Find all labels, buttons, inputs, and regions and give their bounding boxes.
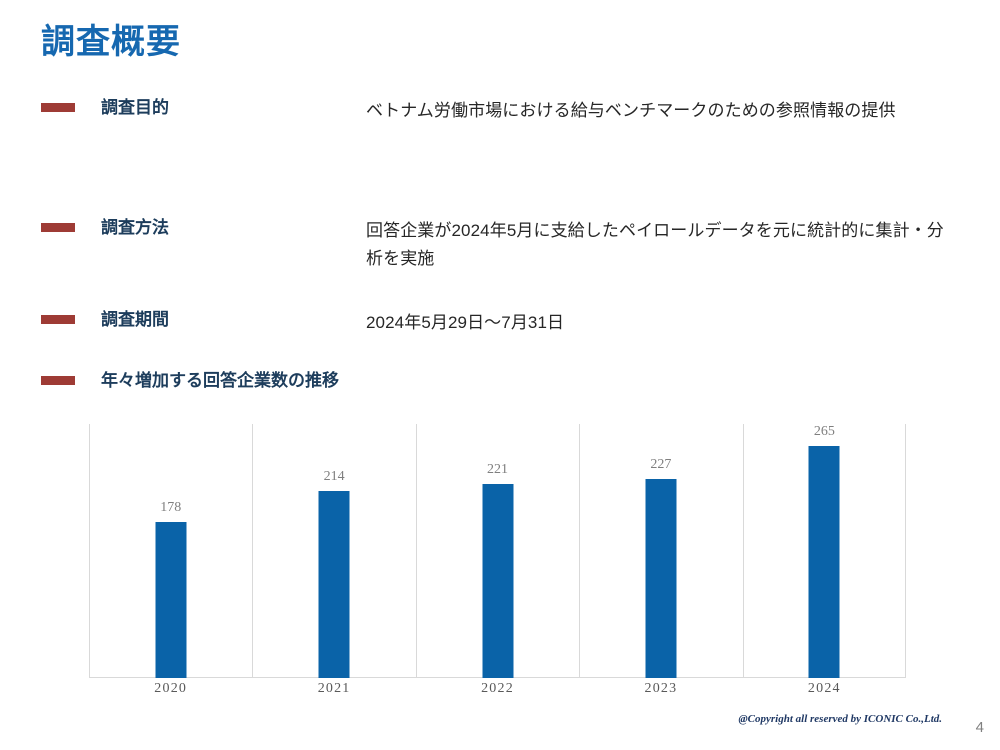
chart-bar-value-label: 221 [487,462,508,478]
chart-category-separator [579,424,580,678]
chart-bar[interactable] [319,491,350,678]
slide-canvas: 調査概要 調査目的 ベトナム労働市場における給与ベンチマークのための参照情報の提… [0,0,1000,750]
chart-category-separator [416,424,417,678]
chart-bar-value-label: 265 [814,424,835,440]
chart-category-2023: 227 [579,424,742,678]
chart-x-axis-labels: 20202021202220232024 [89,681,906,697]
chart-category-separator [743,424,744,678]
chart-plot-area: 178214221227265 [89,424,906,678]
bullet-marker-icon [41,223,75,232]
chart-bar[interactable] [155,522,186,678]
copyright-text: @Copyright all reserved by ICONIC Co.,Lt… [739,713,942,725]
chart-category-2021: 214 [252,424,415,678]
chart-bar[interactable] [482,484,513,678]
chart-x-tick-2020: 2020 [89,681,252,697]
bullet-label-purpose: 調査目的 [101,98,169,118]
response-companies-bar-chart: 178214221227265 [89,424,906,678]
bullet-marker-icon [41,376,75,385]
bullet-value-purpose: ベトナム労働市場における給与ベンチマークのための参照情報の提供 [366,97,946,125]
page-number: 4 [976,719,984,736]
chart-bar[interactable] [645,479,676,678]
bullet-marker-icon [41,103,75,112]
chart-bar-value-label: 178 [160,500,181,516]
bullet-label-period: 調査期間 [101,310,169,330]
chart-bar-value-label: 214 [324,469,345,485]
bullet-marker-icon [41,315,75,324]
bullet-value-period: 2024年5月29日〜7月31日 [366,309,946,337]
chart-x-tick-2023: 2023 [579,681,742,697]
chart-x-tick-2022: 2022 [416,681,579,697]
chart-category-2020: 178 [89,424,252,678]
bullet-label-trend: 年々増加する回答企業数の推移 [101,371,339,391]
chart-category-separator [252,424,253,678]
chart-category-2024: 265 [743,424,906,678]
chart-bar[interactable] [809,446,840,678]
chart-bar-value-label: 227 [650,457,671,473]
chart-x-tick-2021: 2021 [252,681,415,697]
bullet-label-method: 調査方法 [101,218,169,238]
chart-category-2022: 221 [416,424,579,678]
chart-x-tick-2024: 2024 [743,681,906,697]
page-title: 調査概要 [41,23,181,62]
bullet-value-method: 回答企業が2024年5月に支給したペイロールデータを元に統計的に集計・分析を実施 [366,217,946,272]
